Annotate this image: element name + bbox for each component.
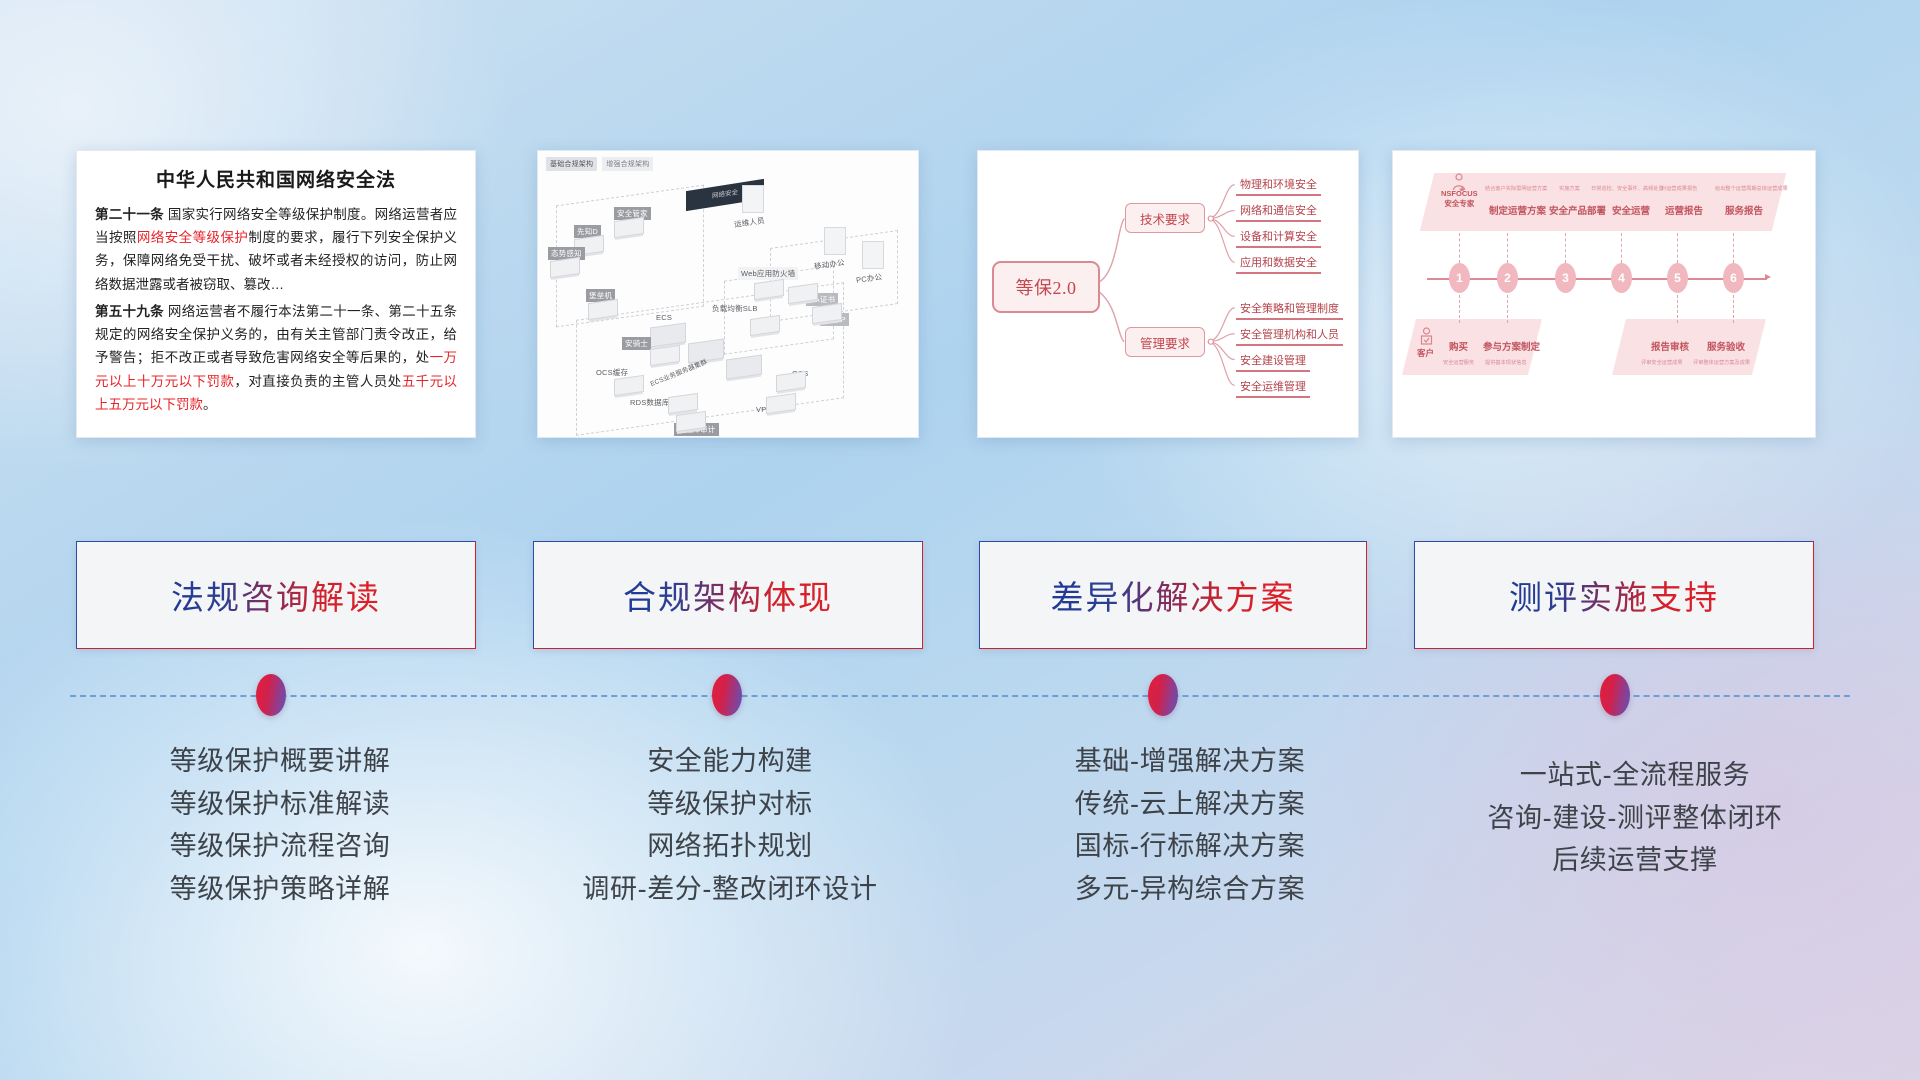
nsfocus-tick-b2 <box>1507 295 1508 323</box>
nsfocus-top-title-4: 运营报告 <box>1665 203 1703 217</box>
headline-label-2: 合规架构体现 <box>623 571 833 619</box>
architecture-icon-ops-user <box>742 185 764 213</box>
list-item: 网络拓扑规划 <box>520 825 940 868</box>
architecture-node-slb: 负载均衡SLB <box>712 303 758 314</box>
architecture-icon-mobile-office <box>824 227 846 255</box>
mindmap-root-node: 等保2.0 <box>992 261 1100 313</box>
mindmap-leaf-application: 应用和数据安全 <box>1236 253 1321 274</box>
nsfocus-step-dot-3: 3 <box>1555 263 1576 293</box>
timeline-dot-1 <box>256 674 286 716</box>
headline-box-compliance-architecture[interactable]: 合规架构体现 <box>533 541 923 649</box>
preview-cards-row: 中华人民共和国网络安全法 第二十一条 国家实行网络安全等级保护制度。网络运营者应… <box>0 150 1920 440</box>
nsfocus-tick-b1 <box>1459 295 1460 323</box>
architecture-node-ops-people: 运维人员 <box>733 215 765 230</box>
architecture-chip-node-b <box>726 354 762 379</box>
architecture-node-rds: RDS数据库 <box>630 397 670 408</box>
nsfocus-brand-name: NSFOCUS <box>1441 189 1478 199</box>
law-article-label-59: 第五十九条 <box>95 304 164 319</box>
architecture-chip-oss <box>776 371 806 392</box>
nsfocus-top-title-1: 制定运营方案 <box>1489 203 1546 217</box>
nsfocus-step-dot-5: 5 <box>1667 263 1688 293</box>
nsfocus-top-title-5: 服务报告 <box>1725 203 1763 217</box>
timeline-dot-2 <box>712 674 742 716</box>
headline-row: 法规咨询解读 合规架构体现 差异化解决方案 测评实施支持 <box>0 541 1920 649</box>
list-item: 安全能力构建 <box>520 740 940 783</box>
timeline-dot-4 <box>1600 674 1630 716</box>
card-djcp-mindmap[interactable]: 等保2.0 技术要求 物理和环境安全 网络和通信安全 设备和计算安全 应用和数据… <box>977 150 1359 438</box>
headline-label-3: 差异化解决方案 <box>1051 571 1296 619</box>
law-title: 中华人民共和国网络安全法 <box>95 165 457 192</box>
list-item: 后续运营支撑 <box>1420 839 1850 882</box>
architecture-chip-rds <box>668 393 698 414</box>
law-article-label-21: 第二十一条 <box>95 207 164 222</box>
list-item: 等级保护流程咨询 <box>60 825 500 868</box>
nsfocus-bottom-title-2: 参与方案制定 <box>1483 339 1540 353</box>
list-item: 国标-行标解决方案 <box>975 825 1405 868</box>
nsfocus-timeline: NSFOCUS 安全专家 结合客户实际需明运营方案 制定运营方案 实施方案 安全… <box>1393 151 1815 437</box>
architecture-node-anqishi: 安骑士 <box>622 337 651 350</box>
nsfocus-customer-label: 客户 <box>1417 347 1434 359</box>
nsfocus-top-title-2: 安全产品部署 <box>1549 203 1606 217</box>
mindmap-leaf-operation: 安全运维管理 <box>1236 377 1310 398</box>
nsfocus-bottom-sub-2: 提供基本现状信息 <box>1485 359 1527 366</box>
law-text-59c: 。 <box>203 397 217 412</box>
nsfocus-step-dot-4: 4 <box>1611 263 1632 293</box>
architecture-chip-ocs <box>614 375 644 396</box>
architecture-chip-bastion <box>588 299 618 320</box>
nsfocus-axis-arrow <box>1765 274 1771 280</box>
nsfocus-top-sub-2: 实施方案 <box>1559 185 1580 192</box>
customer-person-icon <box>1419 327 1434 346</box>
list-item: 等级保护策略详解 <box>60 868 500 911</box>
headline-box-differentiated-solution[interactable]: 差异化解决方案 <box>979 541 1367 649</box>
nsfocus-tick-b3 <box>1677 295 1678 323</box>
law-document: 中华人民共和国网络安全法 第二十一条 国家实行网络安全等级保护制度。网络运营者应… <box>77 151 475 426</box>
nsfocus-bottom-sub-3: 评审安全运营成果 <box>1641 359 1683 366</box>
law-paragraph-21: 第二十一条 国家实行网络安全等级保护制度。网络运营者应当按照网络安全等级保护制度… <box>95 203 457 296</box>
list-item: 等级保护概要讲解 <box>60 740 500 783</box>
law-text-59b: ，对直接负责的主管人员处 <box>234 374 401 389</box>
law-highlight-21: 网络安全等级保护 <box>137 230 249 245</box>
headline-box-regulation-consulting[interactable]: 法规咨询解读 <box>76 541 476 649</box>
architecture-chip-anqishi <box>650 345 680 366</box>
architecture-chip-slb <box>750 315 780 336</box>
architecture-diagram: 基础合规架构 增强合规架构 网络安全 安全管家 先知D 态势感知 堡垒机 ECS <box>538 151 918 437</box>
architecture-tabs: 基础合规架构 增强合规架构 <box>546 157 653 171</box>
architecture-tab-enhanced[interactable]: 增强合规架构 <box>602 157 653 171</box>
list-item: 多元-异构综合方案 <box>975 868 1405 911</box>
architecture-chip-anti-ddos <box>812 303 842 324</box>
nsfocus-bottom-title-4: 服务验收 <box>1707 339 1745 353</box>
nsfocus-tick-3 <box>1565 233 1566 263</box>
card-network-security-law[interactable]: 中华人民共和国网络安全法 第二十一条 国家实行网络安全等级保护制度。网络运营者应… <box>76 150 476 438</box>
architecture-chip-situational <box>550 257 580 278</box>
architecture-tab-basic[interactable]: 基础合规架构 <box>546 157 597 171</box>
nsfocus-bottom-sub-1: 安全运营服务 <box>1443 359 1474 366</box>
list-item: 基础-增强解决方案 <box>975 740 1405 783</box>
nsfocus-bottom-title-1: 购买 <box>1449 339 1468 353</box>
list-item: 传统-云上解决方案 <box>975 783 1405 826</box>
architecture-chip-ca <box>788 283 818 304</box>
headline-label-1: 法规咨询解读 <box>171 571 381 619</box>
nsfocus-step-dot-1: 1 <box>1449 263 1470 293</box>
architecture-chip-waf <box>754 279 784 300</box>
nsfocus-brand-role: 安全专家 <box>1441 199 1478 209</box>
list-item: 等级保护标准解读 <box>60 783 500 826</box>
nsfocus-tick-1 <box>1459 233 1460 263</box>
nsfocus-brand: NSFOCUS 安全专家 <box>1441 189 1478 209</box>
nsfocus-tick-4 <box>1621 233 1622 263</box>
mindmap-leaf-construction: 安全建设管理 <box>1236 351 1310 372</box>
card-nsfocus-service-timeline[interactable]: NSFOCUS 安全专家 结合客户实际需明运营方案 制定运营方案 实施方案 安全… <box>1392 150 1816 438</box>
nsfocus-top-sub-3: 日常巡检、安全事件、高频处置 <box>1591 185 1664 192</box>
list-item: 等级保护对标 <box>520 783 940 826</box>
mindmap-branch-technical: 技术要求 <box>1125 203 1205 233</box>
list-item: 咨询-建设-测评整体闭环 <box>1420 797 1850 840</box>
architecture-chip-security-butler <box>614 217 644 238</box>
architecture-chip-vpc <box>766 393 796 414</box>
mindmap-branch-management: 管理要求 <box>1125 327 1205 357</box>
detail-column-3: 基础-增强解决方案 传统-云上解决方案 国标-行标解决方案 多元-异构综合方案 <box>975 740 1405 911</box>
nsfocus-top-sub-1: 结合客户实际需明运营方案 <box>1485 185 1547 192</box>
law-paragraph-59: 第五十九条 网络运营者不履行本法第二十一条、第二十五条规定的网络安全保护义务的，… <box>95 300 457 416</box>
nsfocus-tick-2 <box>1507 233 1508 263</box>
mindmap-leaf-device: 设备和计算安全 <box>1236 227 1321 248</box>
list-item: 一站式-全流程服务 <box>1420 754 1850 797</box>
nsfocus-step-dot-6: 6 <box>1723 263 1744 293</box>
nsfocus-top-sub-5: 给出整个运营周期总体运营成果 <box>1715 185 1788 192</box>
mindmap-leaf-policy: 安全策略和管理制度 <box>1236 299 1343 320</box>
architecture-node-waf: Web应用防火墙 <box>738 267 798 280</box>
mindmap-leaf-physical: 物理和环境安全 <box>1236 175 1321 196</box>
detail-column-1: 等级保护概要讲解 等级保护标准解读 等级保护流程咨询 等级保护策略详解 <box>60 740 500 911</box>
headline-label-4: 测评实施支持 <box>1509 571 1719 619</box>
mindmap: 等保2.0 技术要求 物理和环境安全 网络和通信安全 设备和计算安全 应用和数据… <box>978 151 1358 437</box>
nsfocus-tick-b4 <box>1733 295 1734 323</box>
card-compliance-architecture[interactable]: 基础合规架构 增强合规架构 网络安全 安全管家 先知D 态势感知 堡垒机 ECS <box>537 150 919 438</box>
nsfocus-tick-6 <box>1733 233 1734 263</box>
timeline-dot-3 <box>1148 674 1178 716</box>
headline-box-assessment-support[interactable]: 测评实施支持 <box>1414 541 1814 649</box>
nsfocus-step-dot-2: 2 <box>1497 263 1518 293</box>
architecture-chip-db-audit <box>676 411 706 432</box>
mindmap-leaf-org: 安全管理机构和人员 <box>1236 325 1343 346</box>
mindmap-leaf-network: 网络和通信安全 <box>1236 201 1321 222</box>
architecture-icon-pc-office <box>862 241 884 269</box>
nsfocus-top-title-3: 安全运营 <box>1612 203 1650 217</box>
architecture-node-ecs: ECS <box>656 313 672 322</box>
nsfocus-tick-5 <box>1677 233 1678 263</box>
nsfocus-axis <box>1427 278 1767 280</box>
detail-column-2: 安全能力构建 等级保护对标 网络拓扑规划 调研-差分-整改闭环设计 <box>520 740 940 911</box>
detail-column-4: 一站式-全流程服务 咨询-建设-测评整体闭环 后续运营支撑 <box>1420 754 1850 882</box>
timeline-dashed-line <box>70 695 1850 697</box>
list-item: 调研-差分-整改闭环设计 <box>520 868 940 911</box>
nsfocus-bottom-title-3: 报告审核 <box>1651 339 1689 353</box>
nsfocus-top-sub-4: 对运营成果报告 <box>1661 185 1697 192</box>
architecture-chip-ecs <box>650 322 686 347</box>
nsfocus-bottom-sub-4: 评审整体运营方案及成果 <box>1693 359 1750 366</box>
